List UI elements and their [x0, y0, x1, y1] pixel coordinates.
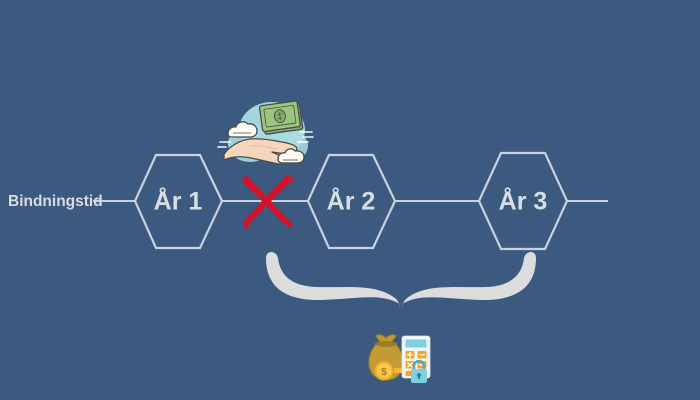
timeline-node-year-3[interactable]: År 3: [479, 153, 567, 249]
timeline-diagram: Bindningstid År 1 År 2 År 3: [0, 0, 700, 400]
timeline-node-year-2[interactable]: År 2: [308, 155, 395, 248]
timeline-node-label: År 3: [499, 187, 548, 216]
money-bag-calculator-lock-illustration: $: [362, 330, 438, 388]
timeline-axis-label: Bindningstid: [8, 193, 103, 210]
infographic-canvas: Bindningstid År 1 År 2 År 3: [0, 0, 700, 400]
hand-receiving-money-illustration: [216, 96, 320, 172]
cloud-icon: [228, 122, 257, 137]
svg-text:$: $: [381, 366, 387, 378]
banknote-icon: [259, 100, 303, 134]
timeline-node-label: År 1: [154, 187, 203, 216]
timeline-node-year-1[interactable]: År 1: [135, 155, 222, 248]
curly-brace-icon: [266, 252, 536, 309]
timeline-node-label: År 2: [327, 187, 376, 216]
